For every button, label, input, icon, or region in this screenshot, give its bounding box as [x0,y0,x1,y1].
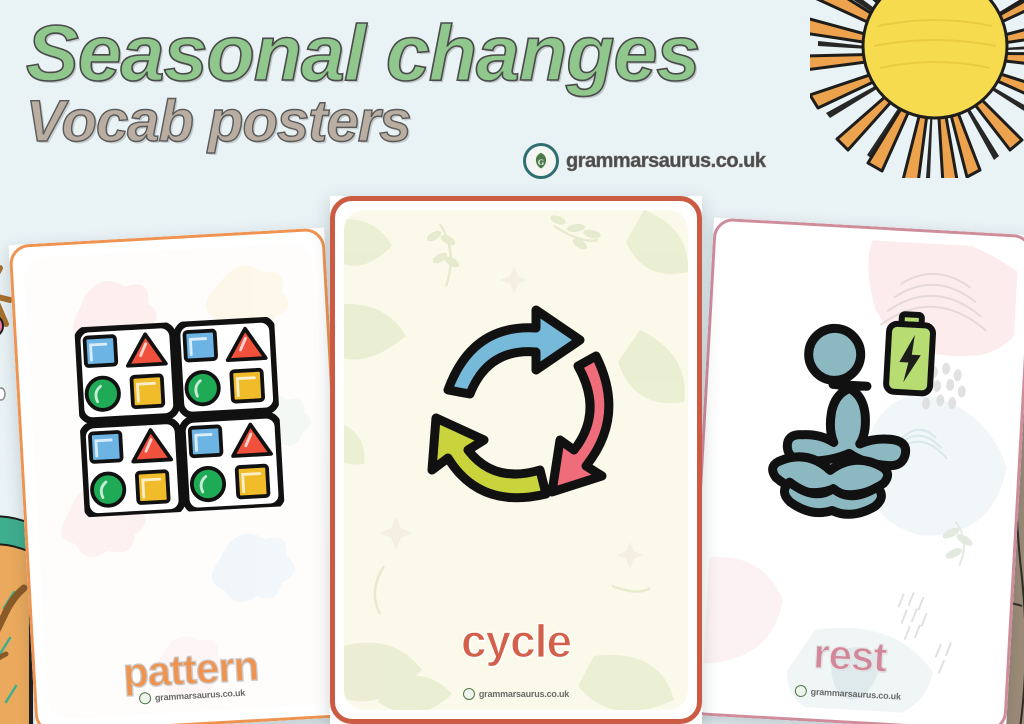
poster-border-cycle [330,196,702,724]
brand-text: grammarsaurus.co.uk [566,150,765,173]
poster-border-pattern [9,228,352,724]
poster-border-rest [686,217,1024,724]
sun-icon [810,0,1024,178]
poster-card-cycle[interactable]: cycle grammarsaurus.co.uk [330,196,702,724]
svg-text:G: G [538,158,545,167]
grammarsaurus-logo-icon: G [523,143,559,179]
poster-preview-canvas: Seasonal changes Vocab posters G grammar… [0,0,1024,724]
brand-logo: G grammarsaurus.co.uk [523,143,765,179]
page-title: Seasonal changes Vocab posters [26,14,699,151]
poster-card-rest[interactable]: rest grammarsaurus.co.uk [686,217,1024,724]
poster-card-pattern[interactable]: pattern grammarsaurus.co.uk [9,228,352,724]
title-line-1: Seasonal changes [26,14,699,91]
